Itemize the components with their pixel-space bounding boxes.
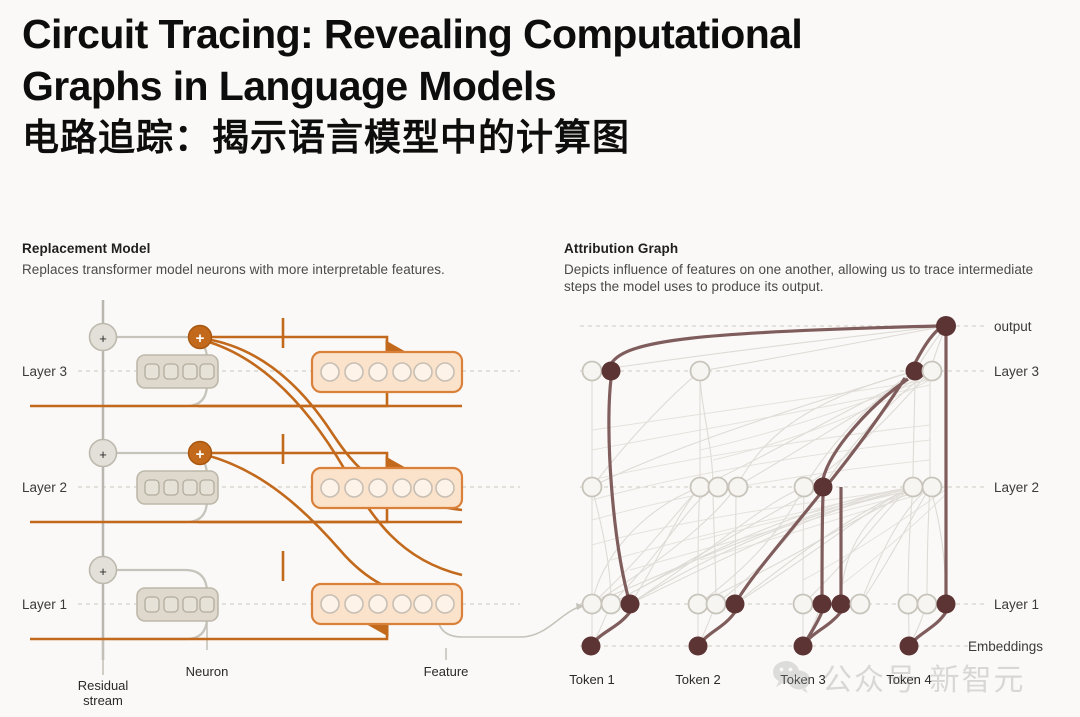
attribution-node-active[interactable] xyxy=(813,595,832,614)
token-label-2: Token 2 xyxy=(675,672,721,687)
attribution-node-active[interactable] xyxy=(814,478,833,497)
neuron-unit xyxy=(200,364,214,379)
neuron-box-layer3[interactable] xyxy=(137,355,218,388)
feature-add-node-layer2[interactable]: + xyxy=(189,442,212,465)
attribution-node-output[interactable] xyxy=(936,316,956,336)
feature-node xyxy=(321,479,339,497)
neuron-unit xyxy=(183,597,197,612)
attribution-node-inactive[interactable] xyxy=(729,478,748,497)
neuron-unit xyxy=(145,480,159,495)
residual-add-node-layer3[interactable]: + xyxy=(90,324,117,351)
attribution-node-inactive[interactable] xyxy=(583,362,602,381)
feature-node xyxy=(345,595,363,613)
plus-icon: + xyxy=(99,331,107,346)
right-row-label-embeddings: Embeddings xyxy=(968,639,1043,654)
neuron-unit xyxy=(200,597,214,612)
left-layer-label-3: Layer 3 xyxy=(22,364,67,379)
attribution-node-embedding[interactable] xyxy=(582,637,601,656)
feature-node xyxy=(414,479,432,497)
right-row-label-output: output xyxy=(994,319,1032,334)
token-label-3: Token 3 xyxy=(780,672,826,687)
neuron-box-layer2[interactable] xyxy=(137,471,218,504)
attribution-node-inactive[interactable] xyxy=(795,478,814,497)
neuron-unit xyxy=(145,597,159,612)
neuron-unit xyxy=(164,597,178,612)
token-label-4: Token 4 xyxy=(886,672,932,687)
attribution-node-inactive[interactable] xyxy=(904,478,923,497)
attribution-faint-edges xyxy=(592,326,946,646)
feature-node xyxy=(369,595,387,613)
feature-node xyxy=(393,363,411,381)
neuron-label: Neuron xyxy=(186,664,229,679)
feature-node xyxy=(436,595,454,613)
attribution-node-active[interactable] xyxy=(726,595,745,614)
attribution-node-embedding[interactable] xyxy=(794,637,813,656)
feature-node xyxy=(436,479,454,497)
feature-node xyxy=(393,595,411,613)
attribution-node-inactive[interactable] xyxy=(794,595,813,614)
feature-label: Feature xyxy=(424,664,469,679)
feature-box-layer3[interactable] xyxy=(312,352,462,392)
right-row-label-layer2: Layer 2 xyxy=(994,480,1039,495)
attribution-node-active[interactable] xyxy=(937,595,956,614)
feature-node xyxy=(414,595,432,613)
attribution-active-edges xyxy=(591,326,946,646)
residual-stream-label-line2: stream xyxy=(83,693,123,708)
feature-node xyxy=(436,363,454,381)
neuron-unit xyxy=(164,480,178,495)
neuron-unit xyxy=(200,480,214,495)
plus-icon: + xyxy=(99,447,107,462)
attribution-node-active[interactable] xyxy=(621,595,640,614)
attribution-faint-edges-secondary xyxy=(592,378,945,585)
plus-icon: + xyxy=(99,564,107,579)
left-layer-label-1: Layer 1 xyxy=(22,597,67,612)
feature-node xyxy=(321,595,339,613)
feature-box-layer2[interactable] xyxy=(312,468,462,508)
attribution-node-embedding[interactable] xyxy=(900,637,919,656)
feature-box-layer1[interactable] xyxy=(312,584,462,624)
feature-node xyxy=(393,479,411,497)
panel-connector-arrow xyxy=(520,606,582,637)
residual-add-node-layer1[interactable]: + xyxy=(90,557,117,584)
neuron-box-layer1[interactable] xyxy=(137,588,218,621)
attribution-node-inactive[interactable] xyxy=(918,595,937,614)
attribution-node-inactive[interactable] xyxy=(851,595,870,614)
plus-icon: + xyxy=(196,330,205,347)
attribution-node-inactive[interactable] xyxy=(691,478,710,497)
attribution-node-embedding[interactable] xyxy=(689,637,708,656)
neuron-unit xyxy=(145,364,159,379)
residual-add-node-layer2[interactable]: + xyxy=(90,440,117,467)
attribution-node-inactive[interactable] xyxy=(691,362,710,381)
neuron-unit xyxy=(183,480,197,495)
attribution-graph-diagram: output Layer 3 Layer 2 Layer 1 Embedding… xyxy=(520,316,1043,687)
feature-node xyxy=(369,479,387,497)
attribution-node-inactive[interactable] xyxy=(899,595,918,614)
feature-node xyxy=(345,363,363,381)
feature-node xyxy=(414,363,432,381)
residual-stream-label-line1: Residual xyxy=(78,678,129,693)
attribution-node-inactive[interactable] xyxy=(923,478,942,497)
attribution-node-inactive[interactable] xyxy=(583,595,602,614)
feature-add-node-layer3[interactable]: + xyxy=(189,326,212,349)
feature-node xyxy=(345,479,363,497)
attribution-node-active[interactable] xyxy=(832,595,851,614)
neuron-unit xyxy=(164,364,178,379)
diagram-canvas: Layer 3 Layer 2 Layer 1 xyxy=(0,0,1080,717)
attribution-node-inactive[interactable] xyxy=(689,595,708,614)
replacement-model-diagram: Layer 3 Layer 2 Layer 1 xyxy=(22,300,520,708)
attribution-node-active[interactable] xyxy=(602,362,621,381)
attribution-node-inactive[interactable] xyxy=(923,362,942,381)
attribution-node-inactive[interactable] xyxy=(709,478,728,497)
attribution-node-inactive[interactable] xyxy=(602,595,621,614)
right-row-label-layer1: Layer 1 xyxy=(994,597,1039,612)
left-layer-label-2: Layer 2 xyxy=(22,480,67,495)
attribution-node-inactive[interactable] xyxy=(583,478,602,497)
feature-node xyxy=(369,363,387,381)
neuron-unit xyxy=(183,364,197,379)
feature-node xyxy=(321,363,339,381)
right-row-label-layer3: Layer 3 xyxy=(994,364,1039,379)
token-label-1: Token 1 xyxy=(569,672,615,687)
attribution-node-inactive[interactable] xyxy=(707,595,726,614)
plus-icon: + xyxy=(196,446,205,463)
